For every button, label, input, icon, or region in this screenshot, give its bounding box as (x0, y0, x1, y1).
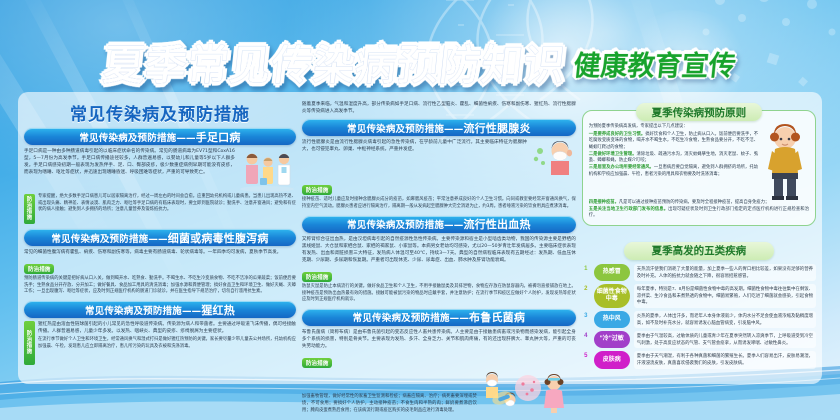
prevention-badge: 防治措施 (302, 358, 332, 368)
section-measures-text: 在流行季节做好个人卫生和环境卫生，经常通风换气和湿式打扫是做好猩红热预防的关键。… (38, 337, 296, 350)
intro-text: 随着夏季来临，气温和湿度升高，部分传染病如手足口病、流行性乙型脑炎、霍乱、细菌性… (302, 101, 576, 115)
section-measures-text: 防鼠灭鼠是防止本病流行的关键。做好食品卫生和个人卫生，不用手接触鼠类及其排泄物，… (302, 284, 576, 304)
disease-row: 4 "冷"过敏 夏季由于气温较高，过敏体质的儿童或青少年在夏季突然转入凉爽季节，… (582, 331, 816, 348)
disease-number: 4 (582, 331, 590, 348)
principle-item: 一是要养成良好的卫生习惯。搞好饮食和个人卫生，防止病从口入。饭前便后要洗手，不吃… (589, 132, 758, 152)
section-body-text: 布鲁氏菌病（简称布病）是由布鲁氏菌引起的变态反应性人畜共患传染病。人主要是由于接… (302, 329, 576, 350)
principle-lead: 五是关注当地卫生行政部门发布的信息。 (589, 207, 668, 212)
section-body-text: 流行性腮腺炎是由流行性腮腺炎病毒引起的急性传染病，在学龄前儿童中广泛流行。其主要… (302, 139, 527, 153)
section-header-prefix: 常见传染病及预防措施—— (85, 303, 201, 317)
section-header-prefix: 常见传染病及预防措施—— (51, 231, 167, 245)
section-measures-text: 专家提醒，绝大多数手足口病患儿可以居家隔离治疗，经过一周左右的时间会自愈。应重回… (38, 194, 296, 214)
principle-item: 五是关注当地卫生行政部门发布的信息。出现可疑症状及时到卫生行政部门指定的定点医疗… (589, 207, 809, 220)
disease-row: 3 热中风 炎热的夏季，人体出汗多，而老年人本身体液就少，体内水分不足会使血液浓… (582, 311, 816, 328)
prevention-badge: 防治措施 (24, 194, 35, 224)
disease-tag-cold-allergy: "冷"过敏 (594, 331, 630, 348)
section-header-diarrhea: 常见传染病及预防措施——细菌或病毒性腹泻病 (24, 229, 296, 246)
principle-item: 二是做好环境卫生管理。清除垃圾、疏通污水沟，消灭蚊蝇孳生地，消灭老鼠、蚊子、虱蚤… (589, 152, 758, 165)
content-board: 常见传染病及预防措施 常见传染病及预防措施——手足口病 手足口病是一种由多种肠道… (18, 92, 822, 384)
mumps-patient-illustration (530, 139, 576, 177)
principle-text: 凡是可以通过接种疫苗预防的传染病，要及时全程接种疫苗，提高自身免疫力； (619, 200, 769, 205)
column-middle: 随着夏季来临，气温和湿度升高，部分传染病如手足口病、流行性乙型脑炎、霍乱、细菌性… (302, 98, 576, 378)
disease-row: 1 热感冒 天热流汗使我们消耗了大量的能量，加上夏季一些人的胃口相比较差，如果没… (582, 264, 816, 281)
disease-tag-heat-cold: 热感冒 (594, 264, 630, 281)
boy-standing-illustration (761, 124, 809, 200)
section-measures-text: 加强畜牧管理，做好经常性的家畜卫生监测和检疫；病畜应隔离、治疗；病死畜要深埋或焚… (302, 394, 477, 414)
section-header-name: 细菌或病毒性腹泻病 (168, 230, 269, 246)
page-subtitle: 健康教育宣传 (572, 44, 738, 83)
section-header-name: 布鲁氏菌病 (469, 309, 525, 325)
disease-description: 夏季由于天气潮湿，有利于各种真菌和细菌的繁殖生长。夏季人们容易出汗，皮肤易潮湿，… (634, 351, 816, 368)
section-header-name: 流行性出血热 (463, 216, 530, 232)
prevention-principles-panel: 夏季传染病预防原则 为预防夏季传染病高发病，专家提出以下几点建议： 一是要养成良… (582, 110, 816, 226)
disease-description: 天热流汗使我们消耗了大量的能量，加上夏季一些人的胃口相比较差，如果没有足够的营养… (634, 264, 816, 281)
disease-row: 2 细菌性食物中毒 每年夏季，特别是7、8月份是细菌性食物中毒的高发期。细菌性食… (582, 284, 816, 308)
principle-lead: 一是要养成良好的卫生习惯。 (589, 132, 645, 137)
section-body-text: 手足口病是一种由多种肠道病毒引起的以临床症状命名的传染病。常见的肠道病毒为EV7… (24, 148, 235, 176)
prevention-badge: 防治措施 (302, 185, 332, 195)
left-column-heading: 常见传染病及预防措施 (24, 100, 296, 125)
panel-intro-text: 为预防夏季传染病高发病，专家提出以下几点建议： (589, 124, 758, 131)
prevention-badge: 防治措施 (24, 264, 54, 274)
poster-title-bar: 夏季常见传染病预防知识 健康教育宣传 (0, 33, 840, 89)
disease-tag-heat-stroke: 热中风 (594, 311, 630, 328)
principle-lead: 三是居室及办公场所要经常通风。 (589, 165, 654, 170)
high-incidence-panel: 夏季高发的五类疾病 1 热感冒 天热流汗使我们消耗了大量的能量，加上夏季一些人的… (582, 242, 816, 369)
panel-title-high-incidence: 夏季高发的五类疾病 (624, 242, 774, 260)
section-header-hemorrhagic-fever: 常见传染病及预防措施——流行性出血热 (302, 216, 576, 233)
disease-number: 1 (582, 264, 590, 281)
principle-lead: 二是做好环境卫生管理。 (589, 152, 637, 157)
section-header-hand-foot-mouth: 常见传染病及预防措施——手足口病 (24, 128, 296, 145)
section-body-text: 又称肾综合征出血热，是由汉坦病毒引起的自然疫源性急性传染病。主要传染源和宿主是小… (302, 236, 576, 264)
column-right: 夏季传染病预防原则 为预防夏季传染病高发病，专家提出以下几点建议： 一是要养成良… (582, 98, 816, 378)
disease-tag-skin-disease: 皮肤病 (594, 351, 630, 368)
column-left: 常见传染病及预防措施 常见传染病及预防措施——手足口病 手足口病是一种由多种肠道… (24, 98, 296, 378)
section-header-prefix: 常见传染病及预防措施—— (347, 121, 463, 135)
disease-description: 每年夏季，特别是7、8月份是细菌性食物中毒的高发期。细菌性食物中毒往往集中在剩饭… (634, 284, 816, 308)
section-measures-text: 预防肠道传染病的关键是把好病从口入关，做到喝开水、吃熟食、勤洗手。不喝生水、不吃… (24, 276, 296, 296)
page-title: 夏季常见传染病预防知识 (101, 31, 569, 91)
principle-item: 四是接种疫苗。凡是可以通过接种疫苗预防的传染病，要及时全程接种疫苗，提高自身免疫… (589, 200, 809, 207)
disease-number: 5 (582, 351, 590, 368)
section-header-name: 手足口病 (196, 129, 241, 145)
hygiene-illustration-group (480, 370, 576, 414)
section-header-name: 流行性腮腺炎 (463, 120, 530, 136)
disease-tag-food-poisoning: 细菌性食物中毒 (594, 284, 630, 308)
section-header-scarlet-fever: 常见传染病及预防措施——猩红热 (24, 301, 296, 318)
section-header-prefix: 常见传染病及预防措施—— (353, 310, 469, 324)
family-clinic-illustration (238, 148, 296, 192)
section-header-name: 猩红热 (201, 302, 235, 318)
section-header-prefix: 常见传染病及预防措施—— (79, 130, 195, 144)
disease-number: 2 (582, 284, 590, 308)
section-header-prefix: 常见传染病及预防措施—— (347, 217, 463, 231)
principle-lead: 四是接种疫苗。 (589, 200, 619, 205)
prevention-badge: 防治措施 (24, 321, 35, 365)
prevention-badge: 防治措施 (302, 272, 332, 282)
principle-item: 三是居室及办公场所要经常通风。一旦患病后要自觉隔离，避免到人群拥挤的场所，托幼机… (589, 165, 758, 178)
section-measures-text: 接种疫苗、适时儿童应及时接种含腮腺炎成分的疫苗，如麻腮风疫苗；平常注意养成良好的… (302, 197, 576, 210)
section-header-brucellosis: 常见传染病及预防措施——布鲁氏菌病 (302, 309, 576, 326)
panel-title-prevention-principles: 夏季传染病预防原则 (636, 103, 762, 121)
disease-description: 炎热的夏季，人体出汗多，而老年人本身体液就少，体内水分不足会使血液浓缩及黏稠度增… (634, 311, 816, 328)
section-body-text: 猩红热是由溶血性链球菌引起的小儿常见的急性呼吸道传染病。传染源为病人和带菌者。主… (38, 321, 296, 335)
disease-number: 3 (582, 311, 590, 328)
disease-description: 夏季由于气温较高，过敏体质的儿童或青少年在夏季突然转入凉爽季节，上呼吸道受到冷空… (634, 331, 816, 348)
section-body-text: 常见的细菌性腹泻病有霍乱、痢疾、伤寒和副伤寒等，病毒主要有肠道病毒、轮状病毒等。… (24, 249, 296, 256)
disease-row: 5 皮肤病 夏季由于天气潮湿，有利于各种真菌和细菌的繁殖生长。夏季人们容易出汗，… (582, 351, 816, 368)
section-header-mumps: 常见传染病及预防措施——流行性腮腺炎 (302, 119, 576, 136)
